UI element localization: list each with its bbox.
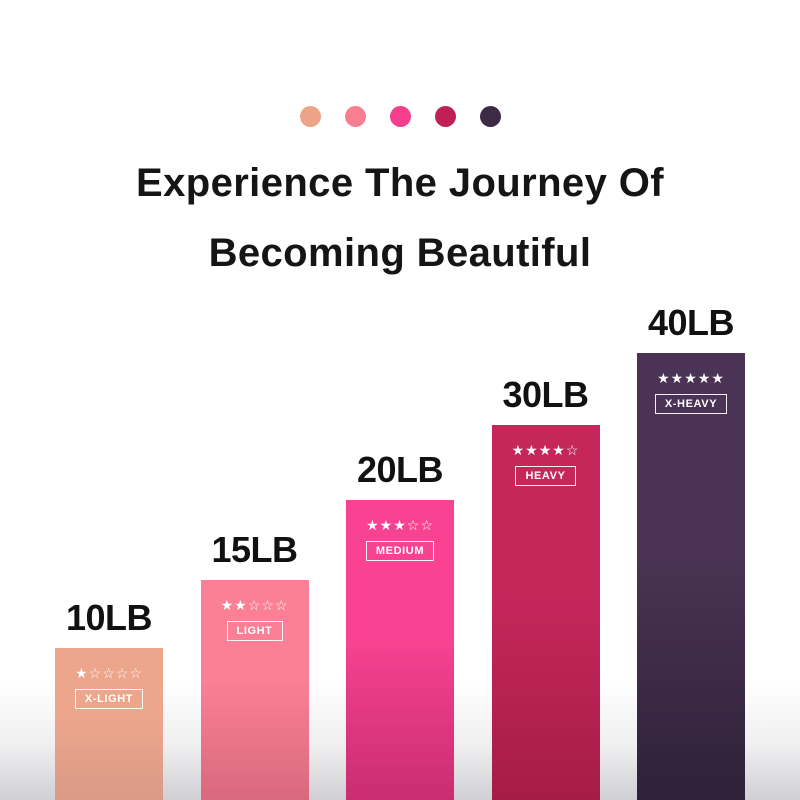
- headline-line-1: Experience The Journey Of: [0, 148, 800, 218]
- level-badge: X-HEAVY: [655, 394, 727, 414]
- dot-x-light: [300, 106, 321, 127]
- page-title: Experience The Journey Of Becoming Beaut…: [0, 148, 800, 288]
- resistance-bar-chart: 10LB★☆☆☆☆X-LIGHT15LB★★☆☆☆LIGHT20LB★★★☆☆M…: [55, 330, 745, 800]
- dot-medium: [390, 106, 411, 127]
- bar-30lb[interactable]: ★★★★☆HEAVY: [492, 425, 600, 800]
- bar-40lb[interactable]: ★★★★★X-HEAVY: [637, 353, 745, 800]
- star-rating-icon: ★★★★☆: [512, 443, 580, 457]
- bar-10lb[interactable]: ★☆☆☆☆X-LIGHT: [55, 648, 163, 800]
- star-rating-icon: ★★☆☆☆: [221, 598, 289, 612]
- headline-line-2: Becoming Beautiful: [0, 218, 800, 288]
- bar-weight-label: 10LB: [66, 600, 152, 636]
- bar-weight-label: 15LB: [211, 532, 297, 568]
- bar-weight-label: 40LB: [648, 305, 734, 341]
- dot-heavy: [435, 106, 456, 127]
- bar-20lb[interactable]: ★★★☆☆MEDIUM: [346, 500, 454, 800]
- star-rating-icon: ★★★☆☆: [366, 518, 434, 532]
- level-badge: MEDIUM: [366, 541, 434, 561]
- bar-group-30lb[interactable]: 30LB★★★★☆HEAVY: [492, 377, 600, 800]
- star-rating-icon: ★★★★★: [657, 371, 725, 385]
- bar-weight-label: 30LB: [502, 377, 588, 413]
- bar-group-20lb[interactable]: 20LB★★★☆☆MEDIUM: [346, 452, 454, 800]
- bar-weight-label: 20LB: [357, 452, 443, 488]
- product-infographic: Experience The Journey Of Becoming Beaut…: [0, 0, 800, 800]
- bar-15lb[interactable]: ★★☆☆☆LIGHT: [201, 580, 309, 800]
- bar-group-10lb[interactable]: 10LB★☆☆☆☆X-LIGHT: [55, 600, 163, 800]
- level-badge: LIGHT: [227, 621, 283, 641]
- level-badge: X-LIGHT: [75, 689, 143, 709]
- dot-light: [345, 106, 366, 127]
- star-rating-icon: ★☆☆☆☆: [75, 666, 143, 680]
- color-dot-row: [0, 106, 800, 127]
- level-badge: HEAVY: [515, 466, 575, 486]
- dot-x-heavy: [480, 106, 501, 127]
- bar-group-15lb[interactable]: 15LB★★☆☆☆LIGHT: [201, 532, 309, 800]
- bar-group-40lb[interactable]: 40LB★★★★★X-HEAVY: [637, 305, 745, 800]
